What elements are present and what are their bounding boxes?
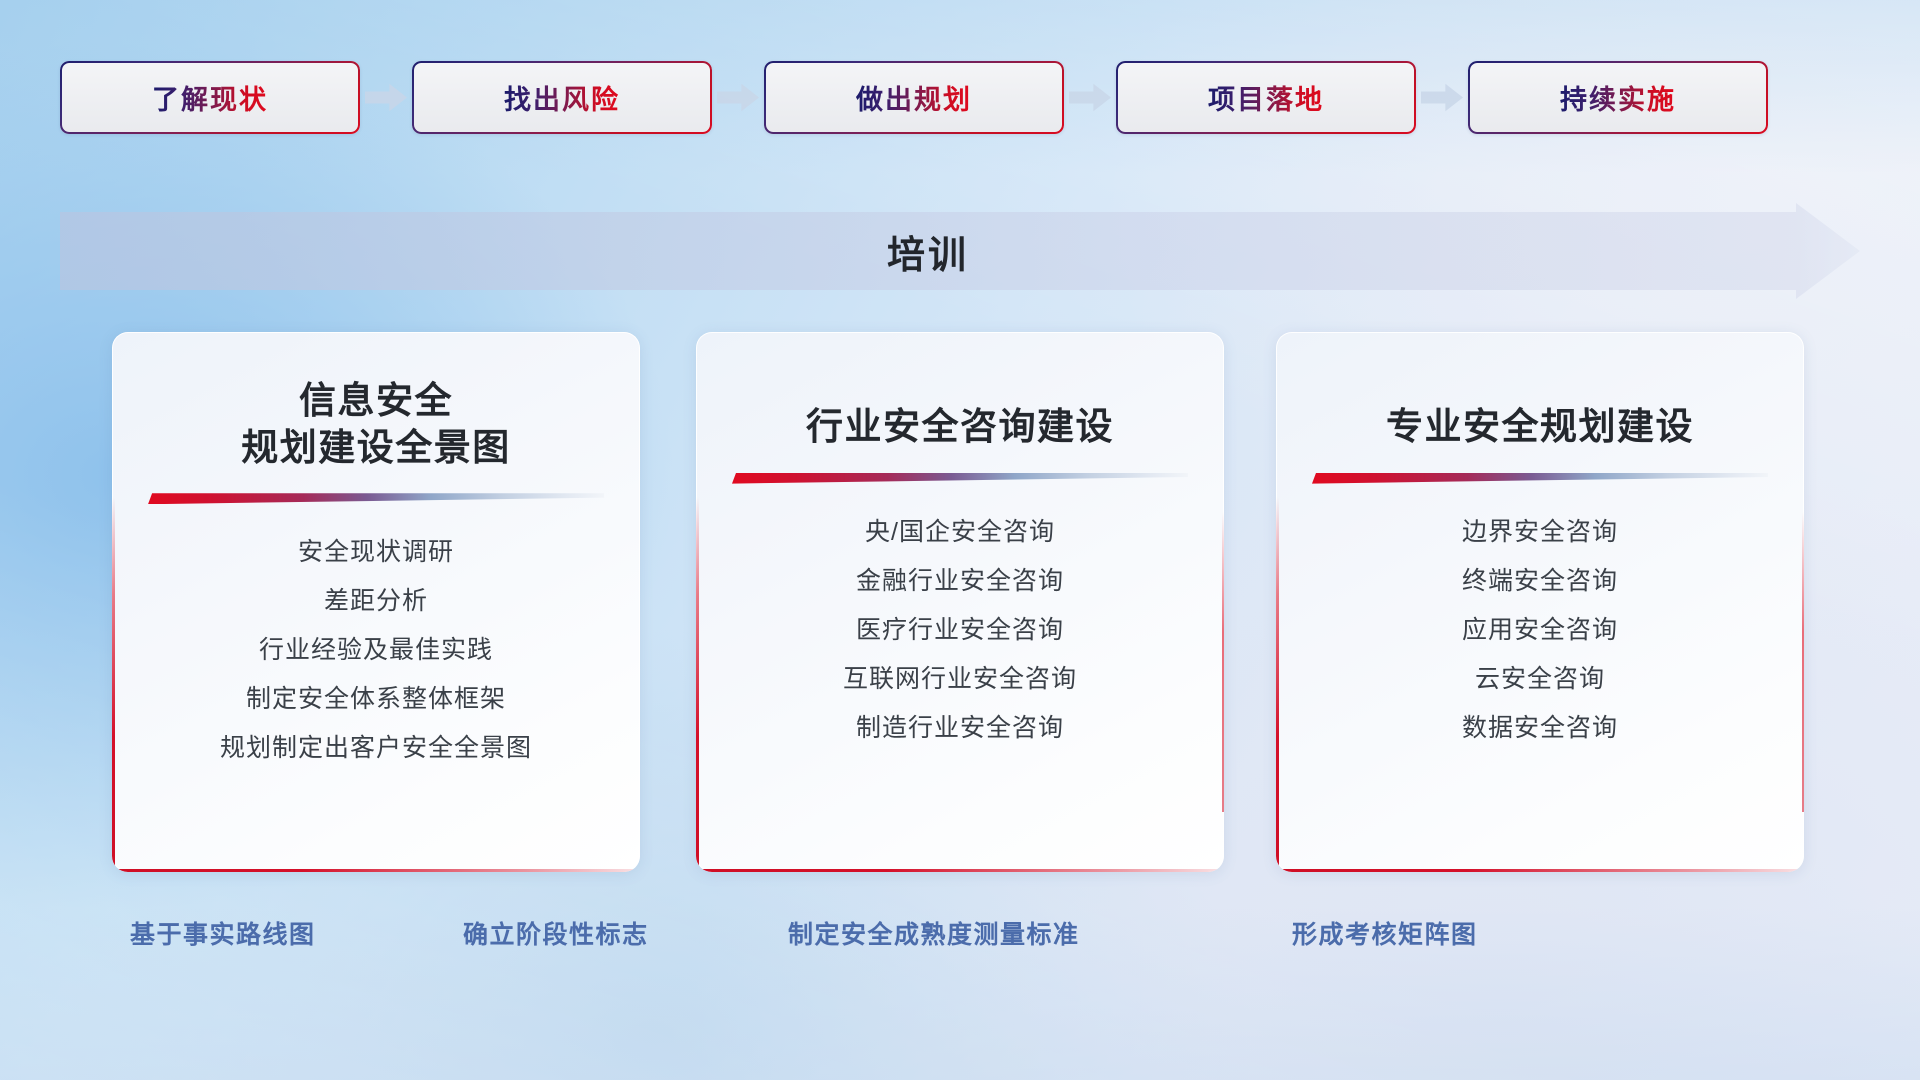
list-item: 云安全咨询 [1475, 658, 1605, 701]
step-pill-1[interactable]: 了解现状 [60, 61, 360, 134]
step-pill-box-5[interactable]: 持续实施 [1468, 61, 1768, 134]
slide-canvas: 了解现状 找出风险 做出规划 项目落地 持续实施 [0, 0, 1920, 1080]
capability-card-1[interactable]: 信息安全 规划建设全景图 安全现状调研 差距分析 行业经验及最佳实践 制定安全体… [112, 332, 640, 872]
list-item: 规划制定出客户安全全景图 [220, 727, 532, 770]
step-pill-4[interactable]: 项目落地 [1116, 61, 1416, 134]
list-item: 差距分析 [324, 580, 428, 623]
list-item: 安全现状调研 [298, 531, 454, 574]
capability-card-row: 信息安全 规划建设全景图 安全现状调研 差距分析 行业经验及最佳实践 制定安全体… [0, 332, 1920, 872]
arrow-right-icon-2 [717, 83, 759, 113]
capability-card-3[interactable]: 专业安全规划建设 边界安全咨询 终端安全咨询 应用安全咨询 云安全咨询 数据安全… [1276, 332, 1804, 872]
list-item: 互联网行业安全咨询 [843, 658, 1077, 701]
step-pill-5[interactable]: 持续实施 [1468, 61, 1768, 134]
list-item: 边界安全咨询 [1462, 511, 1618, 554]
outcome-caption-2: 确立阶段性标志 [463, 915, 649, 951]
card-title-2: 行业安全咨询建设 [730, 332, 1190, 451]
list-item: 应用安全咨询 [1462, 609, 1618, 652]
step-pill-label-3: 做出规划 [856, 78, 972, 117]
band-arrow-head-icon [1796, 203, 1860, 299]
list-item: 行业经验及最佳实践 [259, 629, 493, 672]
card-divider-2 [732, 473, 1188, 485]
step-pill-box-4[interactable]: 项目落地 [1116, 61, 1416, 134]
arrow-right-icon-4 [1421, 83, 1463, 113]
process-step-row: 了解现状 找出风险 做出规划 项目落地 持续实施 [60, 60, 1860, 135]
outcome-caption-1: 基于事实路线图 [130, 915, 316, 951]
step-pill-box-3[interactable]: 做出规划 [764, 61, 1064, 134]
card-list-1: 安全现状调研 差距分析 行业经验及最佳实践 制定安全体系整体框架 规划制定出客户… [146, 531, 606, 770]
step-pill-label-5: 持续实施 [1560, 78, 1676, 117]
arrow-right-icon-1 [365, 83, 407, 113]
capability-card-2[interactable]: 行业安全咨询建设 央/国企安全咨询 金融行业安全咨询 医疗行业安全咨询 互联网行… [696, 332, 1224, 872]
card-title-1: 信息安全 规划建设全景图 [146, 332, 606, 471]
card-divider-1 [148, 493, 604, 505]
list-item: 终端安全咨询 [1462, 560, 1618, 603]
training-band-title: 培训 [60, 212, 1796, 290]
step-pill-label-2: 找出风险 [504, 78, 620, 117]
outcome-caption-3: 制定安全成熟度测量标准 [788, 915, 1080, 951]
step-pill-3[interactable]: 做出规划 [764, 61, 1064, 134]
outcome-caption-row: 基于事实路线图 确立阶段性标志 制定安全成熟度测量标准 形成考核矩阵图 [0, 915, 1920, 961]
card-divider-3 [1312, 473, 1768, 485]
training-band: 培训 [60, 212, 1860, 290]
list-item: 金融行业安全咨询 [856, 560, 1064, 603]
list-item: 数据安全咨询 [1462, 707, 1618, 750]
arrow-right-icon-3 [1069, 83, 1111, 113]
step-pill-label-4: 项目落地 [1208, 78, 1324, 117]
list-item: 制造行业安全咨询 [856, 707, 1064, 750]
list-item: 央/国企安全咨询 [865, 511, 1055, 554]
step-pill-2[interactable]: 找出风险 [412, 61, 712, 134]
outcome-caption-4: 形成考核矩阵图 [1292, 915, 1478, 951]
list-item: 医疗行业安全咨询 [856, 609, 1064, 652]
step-pill-box-1[interactable]: 了解现状 [60, 61, 360, 134]
card-title-3: 专业安全规划建设 [1310, 332, 1770, 451]
step-pill-box-2[interactable]: 找出风险 [412, 61, 712, 134]
list-item: 制定安全体系整体框架 [246, 678, 506, 721]
card-list-2: 央/国企安全咨询 金融行业安全咨询 医疗行业安全咨询 互联网行业安全咨询 制造行… [730, 511, 1190, 750]
step-pill-label-1: 了解现状 [152, 78, 268, 117]
card-list-3: 边界安全咨询 终端安全咨询 应用安全咨询 云安全咨询 数据安全咨询 [1310, 511, 1770, 750]
